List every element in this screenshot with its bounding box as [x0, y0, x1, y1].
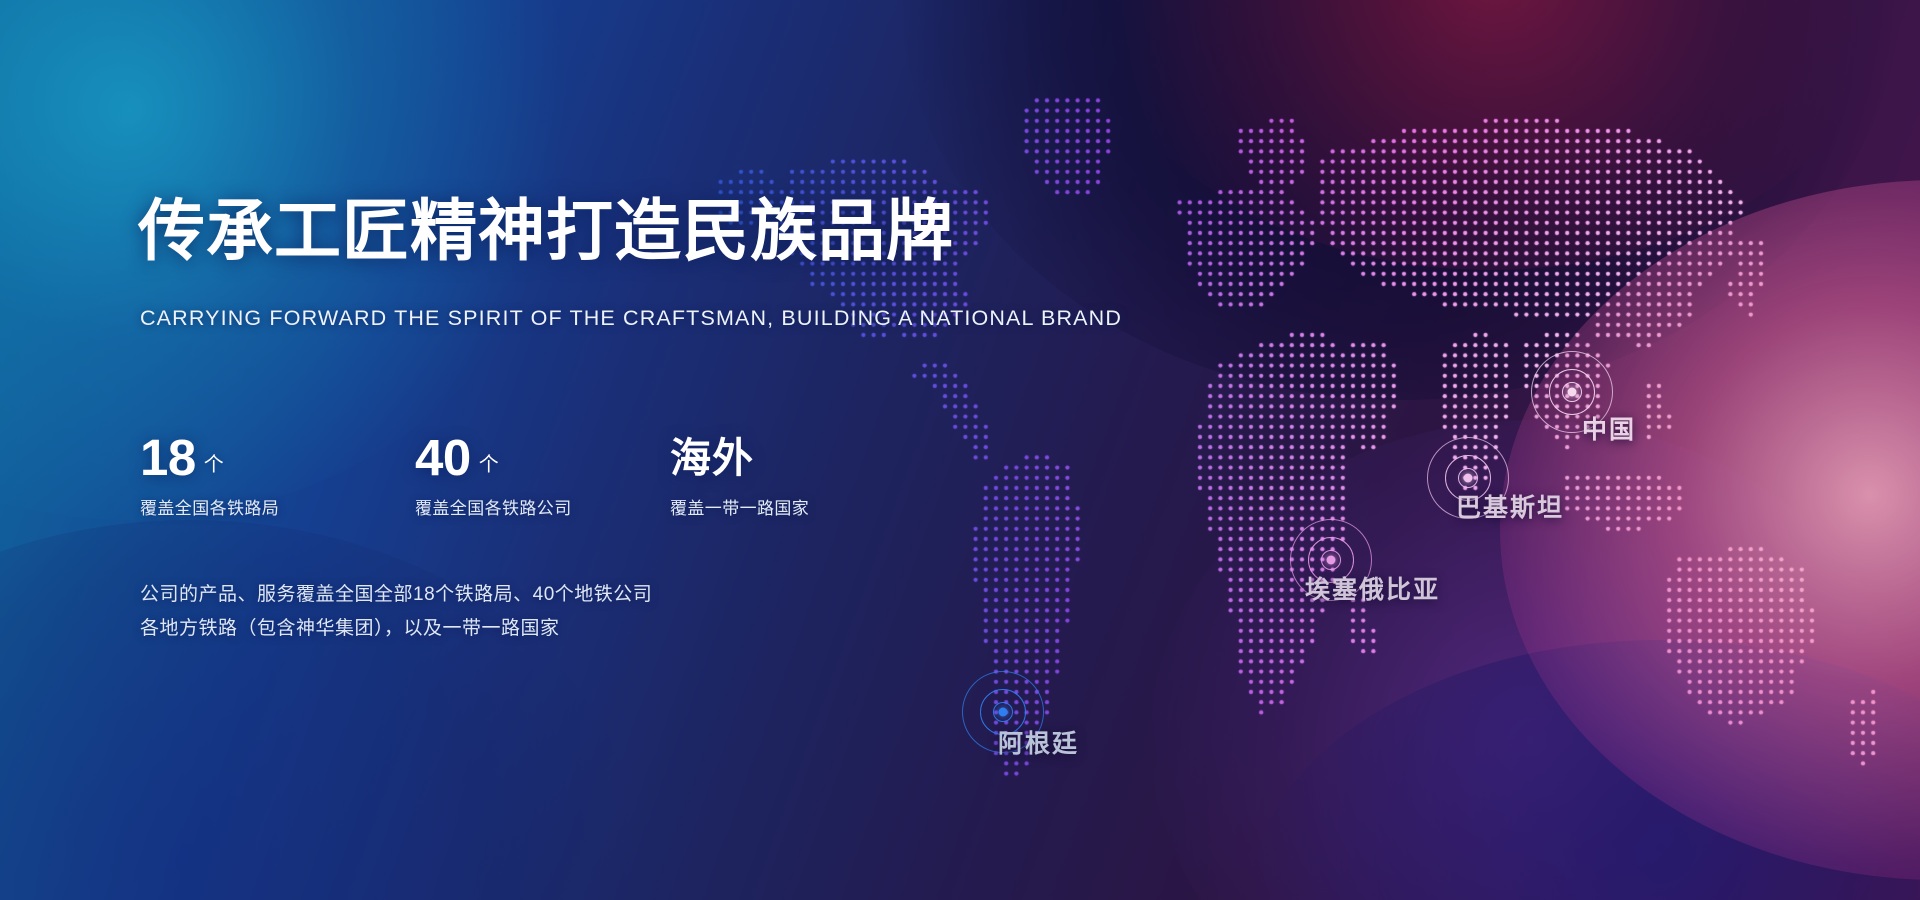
stat-value: 18 — [140, 434, 196, 482]
stat-label: 覆盖全国各铁路公司 — [415, 494, 572, 519]
hero-content: 传承工匠精神打造民族品牌 CARRYING FORWARD THE SPIRIT… — [0, 0, 1100, 900]
stat-item: 40个覆盖全国各铁路公司 — [415, 420, 572, 519]
marker-label: 中国 — [1582, 410, 1636, 446]
stat-label: 覆盖一带一路国家 — [670, 494, 809, 519]
body-copy: 公司的产品、服务覆盖全国全部18个铁路局、40个地铁公司 各地方铁路（包含神华集… — [140, 578, 652, 646]
marker-label: 巴基斯坦 — [1456, 488, 1564, 524]
stats-row: 18个覆盖全国各铁路局40个覆盖全国各铁路公司海外覆盖一带一路国家 — [140, 420, 900, 530]
stat-value: 40 — [415, 434, 471, 482]
stat-label: 覆盖全国各铁路局 — [140, 494, 279, 519]
stat-item: 18个覆盖全国各铁路局 — [140, 420, 279, 519]
stat-value-row: 18个 — [140, 420, 279, 482]
page-title: 传承工匠精神打造民族品牌 — [138, 198, 954, 265]
stat-value-row: 40个 — [415, 420, 572, 482]
stat-value: 海外 — [670, 436, 754, 482]
stat-value-row: 海外 — [670, 420, 809, 482]
page-subtitle: CARRYING FORWARD THE SPIRIT OF THE CRAFT… — [140, 306, 1122, 331]
stat-unit: 个 — [479, 448, 499, 477]
stat-unit: 个 — [204, 448, 224, 477]
stat-item: 海外覆盖一带一路国家 — [670, 420, 809, 519]
marker-label: 埃塞俄比亚 — [1305, 570, 1440, 606]
body-line-1: 公司的产品、服务覆盖全国全部18个铁路局、40个地铁公司 — [140, 578, 652, 612]
hero-banner: 中国巴基斯坦埃塞俄比亚阿根廷 传承工匠精神打造民族品牌 CARRYING FOR… — [0, 0, 1920, 900]
body-line-2: 各地方铁路（包含神华集团），以及一带一路国家 — [140, 612, 652, 646]
